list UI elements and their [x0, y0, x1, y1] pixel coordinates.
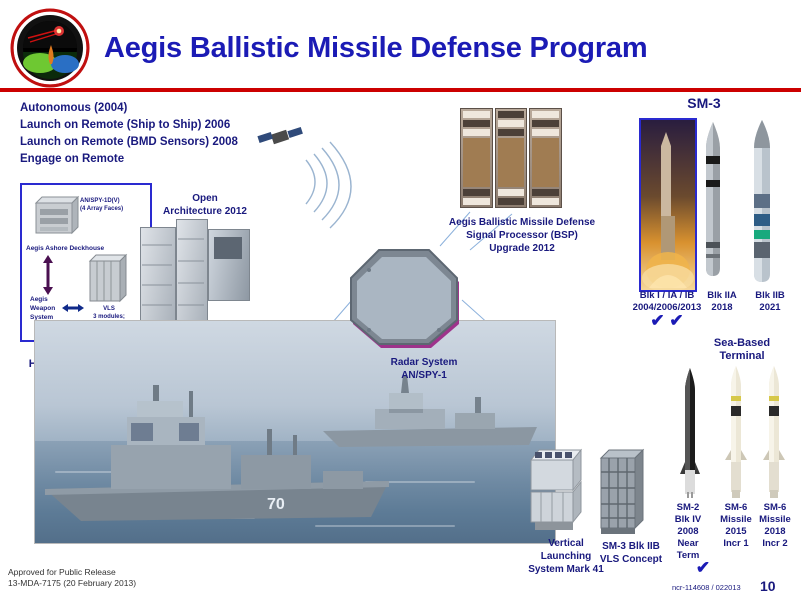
ncr-number: ncr-114608 / 022013 — [672, 583, 741, 592]
sm3-heading: SM-3 — [664, 95, 744, 111]
aegis-ashore-panel: AN/SPY-1D(V) (4 Array Faces) Aegis Ashor… — [20, 183, 152, 342]
spy1-array-panel — [345, 248, 465, 356]
deckhouse-icon — [28, 191, 80, 243]
cabinet-detail — [140, 215, 250, 333]
bsp-cabinet — [460, 108, 493, 208]
aegis-weapon-system-label: Aegis Weapon System — [30, 295, 55, 322]
vls-module-icon — [84, 251, 130, 305]
bullet-0: Autonomous (2004) — [20, 100, 310, 117]
release-statement: Approved for Public Release 13-MDA-7175 … — [8, 567, 136, 589]
sm2-blk4-missile — [678, 366, 702, 498]
mk41-vls-model — [525, 436, 585, 536]
sea-based-terminal-heading: Sea-Based Terminal — [688, 337, 796, 363]
sm3-variant-1-caption: Blk IIA 2018 — [698, 290, 746, 314]
sm3-blk2a-missile — [700, 120, 726, 288]
page-number: 10 — [760, 578, 776, 594]
cruiser-near-icon: 70 — [41, 385, 401, 535]
open-architecture-cabinets — [140, 215, 250, 333]
bullet-1: Launch on Remote (Ship to Ship) 2006 — [20, 117, 310, 134]
sm3-launch-image — [641, 120, 695, 290]
sm3-variant-0-checks: ✔ ✔ — [628, 315, 706, 327]
sm6-incr2-missile — [762, 364, 786, 498]
vertical-arrow-icon — [42, 255, 54, 295]
sm3-variant-2-caption: Blk IIB 2021 — [746, 290, 794, 314]
bullet-3: Engage on Remote — [20, 151, 310, 168]
aegis-ships-photo: 70 — [34, 320, 556, 544]
slide-root: Aegis Ballistic Missile Defense Program — [0, 0, 801, 601]
sm6-incr1-missile — [724, 364, 748, 498]
sbt-variant-0-caption: SM-2 Blk IV 2008 Near Term — [664, 502, 712, 562]
sbt-check: ✔ — [680, 562, 726, 574]
mda-seal-icon — [10, 8, 90, 88]
bsp-cabinet — [495, 108, 528, 208]
ashore-radar-label: AN/SPY-1D(V) (4 Array Faces) — [80, 197, 123, 213]
header-rule — [0, 88, 801, 92]
sm3-blk2b-missile — [748, 118, 776, 288]
sm3-blk2b-vls-concept-model — [595, 448, 650, 536]
capability-bullets: Autonomous (2004) Launch on Remote (Ship… — [20, 100, 310, 168]
bsp-cabinet — [529, 108, 562, 208]
radar-system-label: Radar System AN/SPY-1 — [356, 356, 492, 382]
sm3-blk1-launch-photo — [639, 118, 697, 292]
bsp-cabinets-image — [460, 108, 562, 208]
sbt-variant-2-caption: SM-6 Missile 2018 Incr 2 — [750, 502, 800, 550]
svg-text:70: 70 — [267, 496, 285, 513]
page-title: Aegis Ballistic Missile Defense Program — [104, 22, 764, 74]
bullet-2: Launch on Remote (BMD Sensors) 2008 — [20, 134, 310, 151]
